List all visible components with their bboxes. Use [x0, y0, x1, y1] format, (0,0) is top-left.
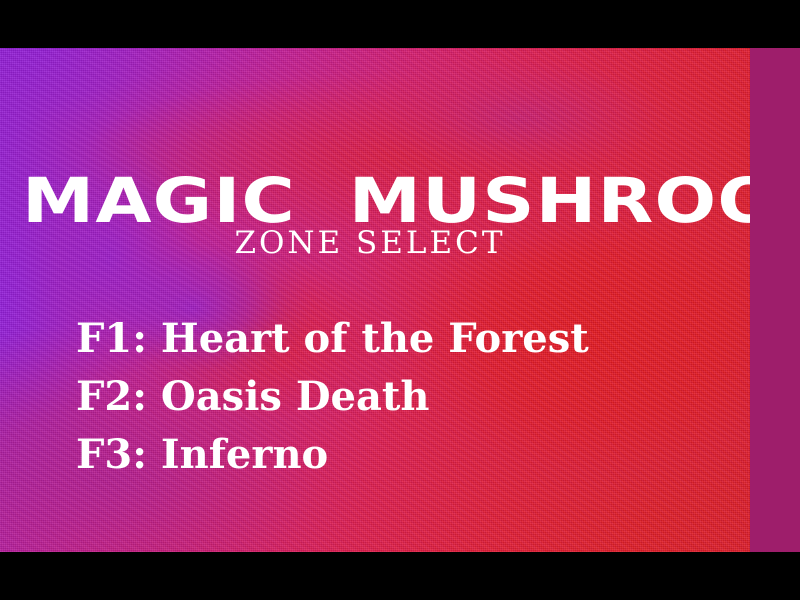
game-title: MAGIC MUSHROOM [22, 170, 800, 232]
zone-menu: F1: Heart of the Forest F2: Oasis Death … [76, 310, 589, 484]
screen-content: MAGIC MUSHROOM ZONE SELECT F1: Heart of … [0, 48, 750, 552]
zone-menu-item-f3[interactable]: F3: Inferno [76, 426, 589, 484]
letterbox-bottom-bar [0, 552, 800, 600]
game-screen: MAGIC MUSHROOM ZONE SELECT F1: Heart of … [0, 0, 800, 600]
zone-menu-item-f1[interactable]: F1: Heart of the Forest [76, 310, 589, 368]
zone-menu-item-f2[interactable]: F2: Oasis Death [76, 368, 589, 426]
right-side-band [750, 48, 800, 552]
letterbox-top-bar [0, 0, 800, 48]
zone-select-heading: ZONE SELECT [0, 228, 740, 259]
